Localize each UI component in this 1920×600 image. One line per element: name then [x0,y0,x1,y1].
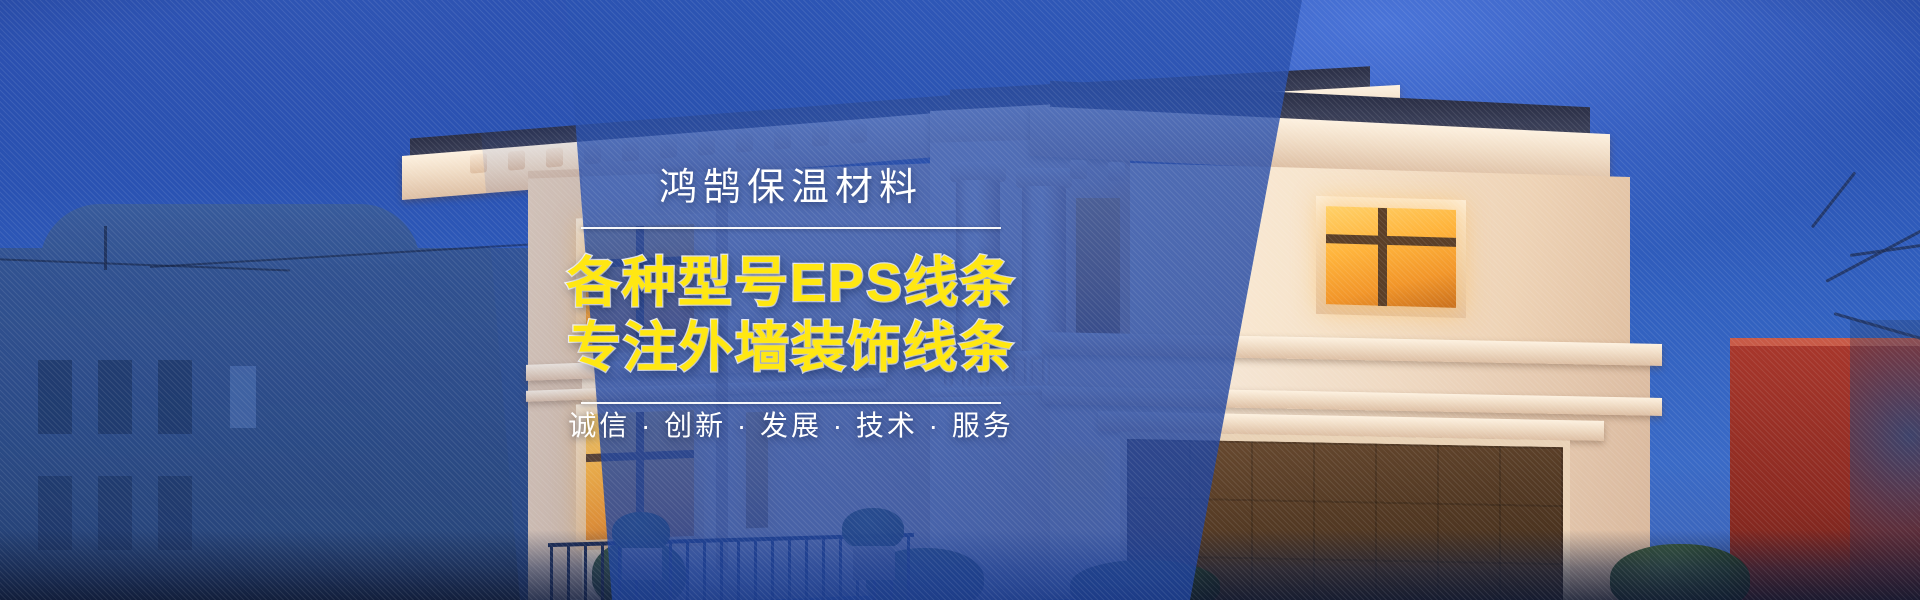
divider-top [581,227,1001,229]
headline: 各种型号EPS线条 专注外墙装饰线条 [566,251,1016,380]
antenna-mast [104,226,107,270]
banner-text-block: 鸿鹄保温材料 各种型号EPS线条 专注外墙装饰线条 诚信 · 创新 · 发展 ·… [556,0,1026,600]
divider-bottom [581,402,1001,404]
company-name: 鸿鹄保温材料 [659,156,923,211]
lit-window [1326,206,1456,308]
promotional-banner: 鸿鹄保温材料 各种型号EPS线条 专注外墙装饰线条 诚信 · 创新 · 发展 ·… [0,0,1920,600]
tagline: 诚信 · 创新 · 发展 · 技术 · 服务 [568,404,1014,444]
headline-line-1: 各种型号EPS线条 [566,251,1016,315]
headline-line-2: 专注外墙装饰线条 [566,316,1016,380]
